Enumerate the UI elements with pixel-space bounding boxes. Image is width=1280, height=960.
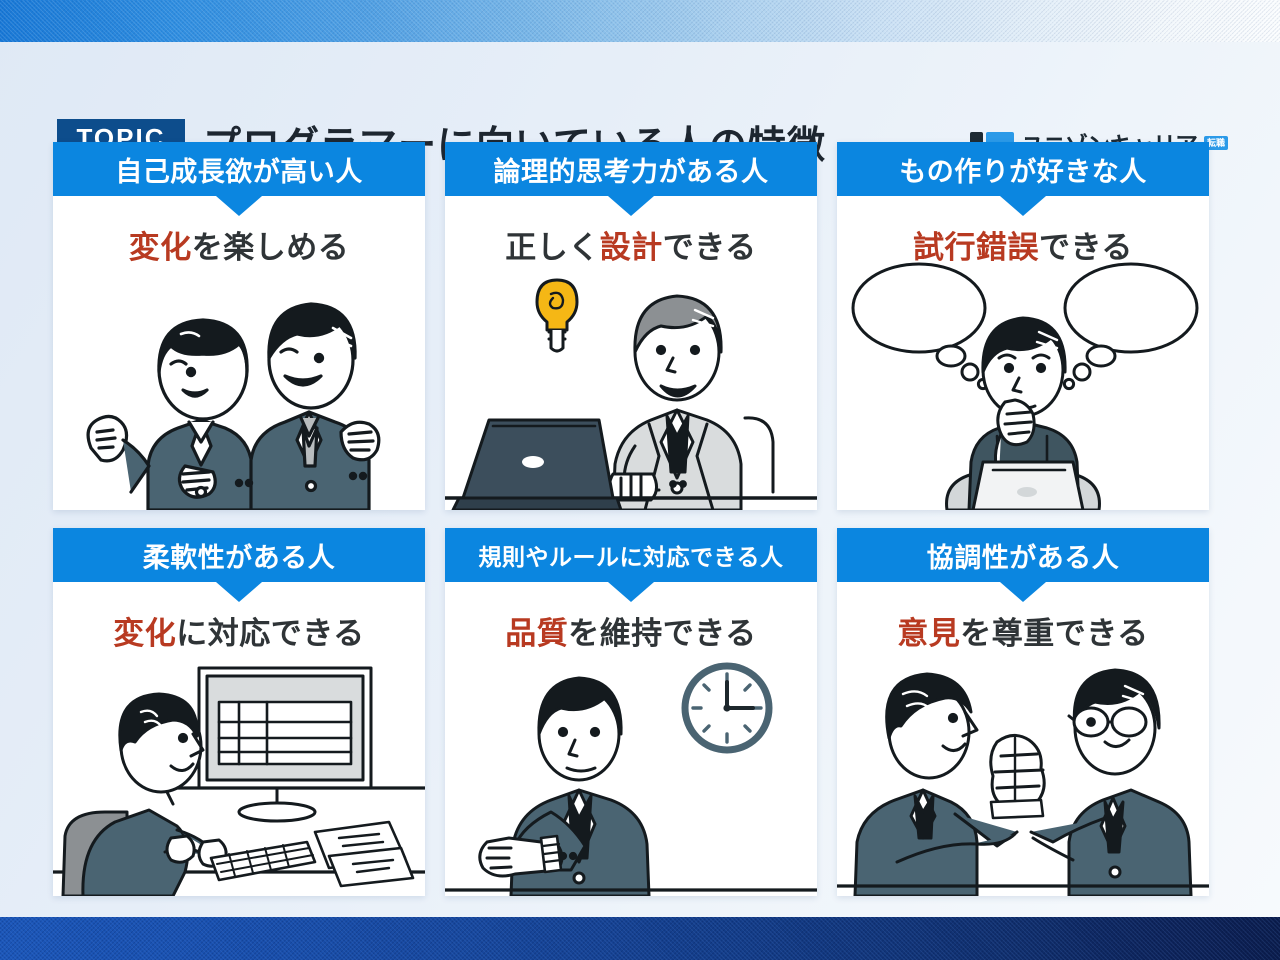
card-header-notch-icon <box>216 196 262 216</box>
card-header: 柔軟性がある人 <box>53 528 425 582</box>
man-thinking-with-thought-bubbles-illustration <box>837 260 1209 510</box>
two-men-handshake-illustration <box>837 646 1209 896</box>
man-at-laptop-with-lightbulb-illustration <box>445 260 817 510</box>
card-header-notch-icon <box>608 196 654 216</box>
top-band-texture <box>0 0 1280 42</box>
card-header-notch-icon <box>1000 196 1046 216</box>
card-header: 自己成長欲が高い人 <box>53 142 425 196</box>
feature-card: 協調性がある人 意見を尊重できる <box>837 528 1209 896</box>
card-header: 規則やルールに対応できる人 <box>445 528 817 582</box>
feature-card: 論理的思考力がある人 正しく設計できる <box>445 142 817 510</box>
card-header: 協調性がある人 <box>837 528 1209 582</box>
infographic-canvas: TOPIC プログラマーに向いている人の特徴 ユニゾンキャリア 転職 自己成長欲… <box>0 0 1280 960</box>
card-header: もの作りが好きな人 <box>837 142 1209 196</box>
feature-card-grid: 自己成長欲が高い人 変化を楽しめる <box>53 142 1229 896</box>
card-heading: 自己成長欲が高い人 <box>115 150 363 189</box>
feature-card: 自己成長欲が高い人 変化を楽しめる <box>53 142 425 510</box>
two-colleagues-celebrating-illustration <box>53 260 425 510</box>
bottom-band-texture <box>0 917 1280 960</box>
card-header: 論理的思考力がある人 <box>445 142 817 196</box>
card-heading: 協調性がある人 <box>927 536 1120 575</box>
feature-card: 柔軟性がある人 変化に対応できる <box>53 528 425 896</box>
card-header-notch-icon <box>216 582 262 602</box>
card-heading: 規則やルールに対応できる人 <box>478 538 783 572</box>
card-heading: もの作りが好きな人 <box>899 150 1147 189</box>
feature-card: 規則やルールに対応できる人 品質を維持できる <box>445 528 817 896</box>
feature-card: もの作りが好きな人 試行錯誤できる <box>837 142 1209 510</box>
page-header: TOPIC プログラマーに向いている人の特徴 ユニゾンキャリア 転職 <box>0 52 1280 126</box>
card-heading: 柔軟性がある人 <box>143 536 336 575</box>
card-heading: 論理的思考力がある人 <box>494 150 769 189</box>
card-header-notch-icon <box>1000 582 1046 602</box>
card-header-notch-icon <box>608 582 654 602</box>
man-checking-watch-with-wall-clock-illustration <box>445 646 817 896</box>
man-at-desktop-with-spreadsheet-illustration <box>53 646 425 896</box>
